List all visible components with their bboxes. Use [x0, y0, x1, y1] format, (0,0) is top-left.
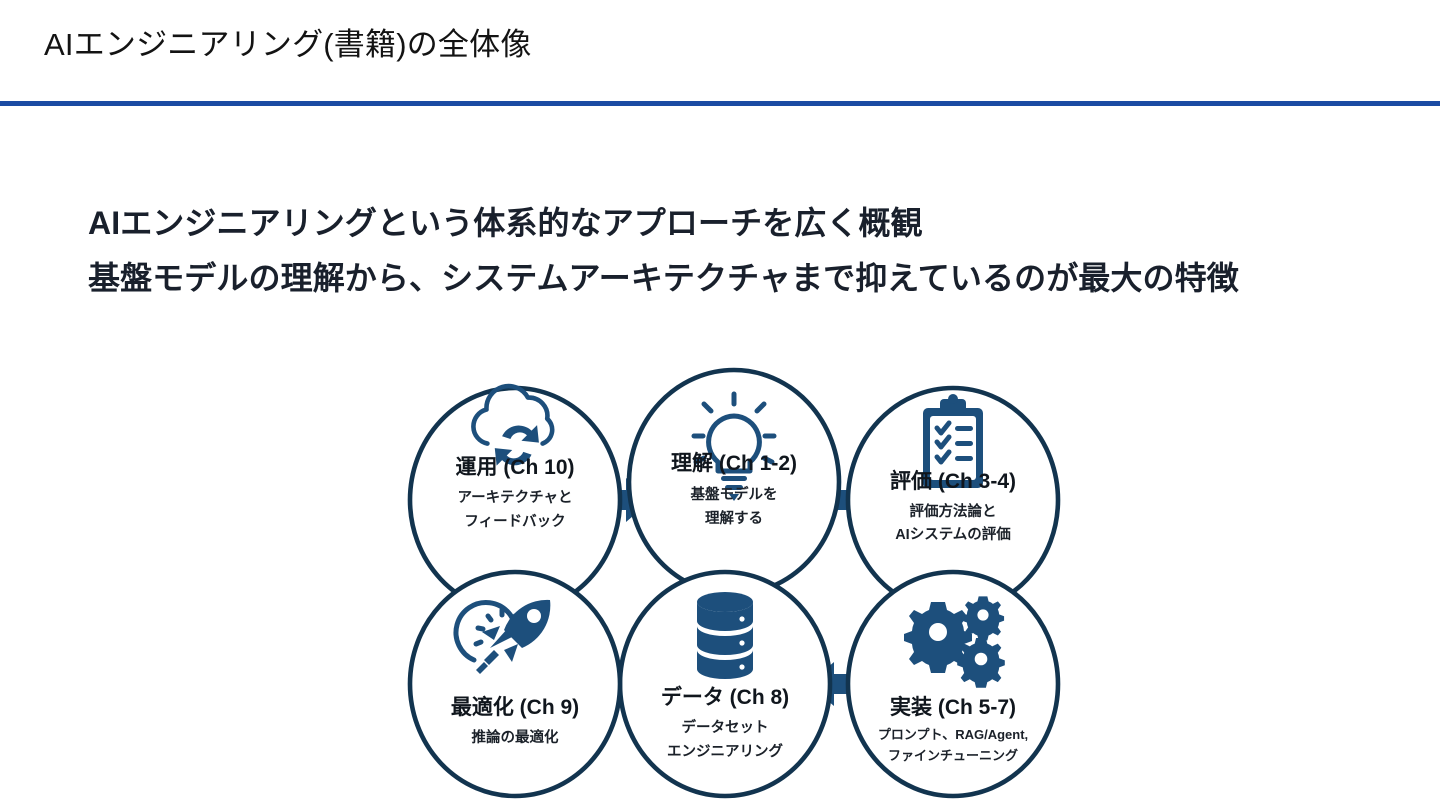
- node-optimize-circle: [410, 572, 620, 796]
- node-data-sub2: エンジニアリング: [667, 742, 783, 760]
- node-understand[interactable]: 理解 (Ch 1-2) 基盤モデルを 理解する: [629, 370, 839, 594]
- node-understand-title: 理解 (Ch 1-2): [671, 451, 797, 475]
- cycle-diagram: 運用 (Ch 10) アーキテクチャと フィードバック 理解 (Ch 1-2) …: [330, 322, 1130, 810]
- node-evaluate-sub1: 評価方法論と: [910, 502, 997, 520]
- node-evaluate-title: 評価 (Ch 3-4): [890, 469, 1016, 493]
- lead-line-2: 基盤モデルの理解から、システムアーキテクチャまで抑えているのが最大の特徴: [88, 251, 1388, 306]
- node-operate-sub1: アーキテクチャと: [458, 489, 573, 506]
- title-divider: [0, 101, 1440, 106]
- node-understand-sub2: 理解する: [705, 509, 763, 527]
- node-operate-sub2: フィードバック: [464, 513, 565, 530]
- node-optimize[interactable]: 最適化 (Ch 9) 推論の最適化: [410, 572, 620, 796]
- node-evaluate-sub2: AIシステムの評価: [895, 525, 1011, 543]
- lead-text-block: AIエンジニアリングという体系的なアプローチを広く概観 基盤モデルの理解から、シ…: [88, 196, 1388, 306]
- node-data-sub1: データセット: [682, 718, 769, 736]
- node-implement-sub1: プロンプト、RAG/Agent,: [878, 727, 1028, 742]
- node-implement[interactable]: 実装 (Ch 5-7) プロンプト、RAG/Agent, ファインチューニング: [848, 572, 1058, 796]
- lead-line-1: AIエンジニアリングという体系的なアプローチを広く概観: [88, 196, 1388, 251]
- node-optimize-title: 最適化 (Ch 9): [451, 695, 579, 719]
- node-data-title: データ (Ch 8): [661, 685, 789, 709]
- node-data[interactable]: データ (Ch 8) データセット エンジニアリング: [620, 572, 830, 796]
- node-understand-sub1: 基盤モデルを: [690, 485, 778, 503]
- node-implement-sub2: ファインチューニング: [888, 748, 1018, 763]
- page-title: AIエンジニアリング(書籍)の全体像: [44, 26, 532, 63]
- node-implement-title: 実装 (Ch 5-7): [890, 695, 1016, 719]
- node-operate-title: 運用 (Ch 10): [455, 456, 574, 479]
- node-optimize-sub1: 推論の最適化: [472, 728, 559, 746]
